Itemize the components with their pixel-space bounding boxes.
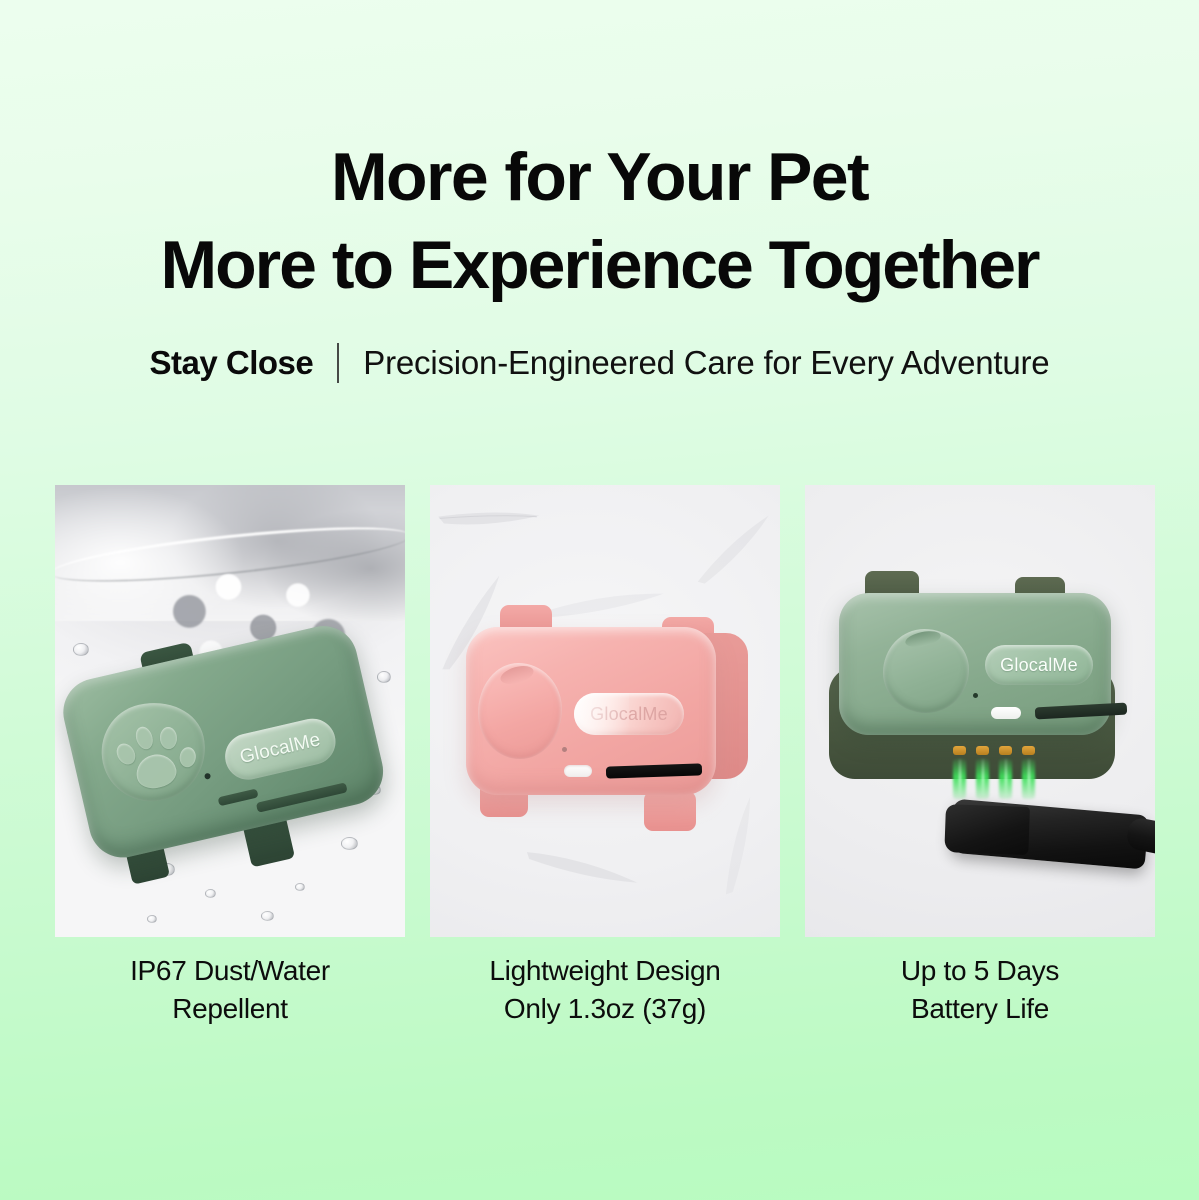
subheadline: Stay Close Precision-Engineered Care for… (0, 341, 1199, 385)
charging-beams (953, 759, 1045, 799)
tracker-device-pink: GlocalMe (466, 605, 756, 835)
brand-logo-text: GlocalMe (1000, 655, 1078, 676)
caption-line-2: Battery Life (805, 990, 1155, 1028)
contact-pin (1022, 746, 1035, 755)
device-body: GlocalMe (839, 593, 1111, 735)
caption-battery: Up to 5 Days Battery Life (805, 952, 1155, 1028)
feature-panel-row: GlocalMe (55, 485, 1155, 937)
bubble (341, 837, 358, 850)
feature-panel-lightweight: GlocalMe (430, 485, 780, 937)
feature-panel-waterproof: GlocalMe (55, 485, 405, 937)
contact-pin (976, 746, 989, 755)
headline-line-1: More for Your Pet (0, 133, 1199, 221)
bubble (205, 889, 216, 898)
bubble (73, 643, 89, 656)
feature-caption-row: IP67 Dust/Water Repellent Lightweight De… (55, 952, 1155, 1028)
contact-pin (953, 746, 966, 755)
caption-line-1: Up to 5 Days (805, 952, 1155, 990)
charge-beam (1022, 759, 1035, 799)
brand-logo-plate: GlocalMe (985, 645, 1093, 685)
bubble (261, 911, 274, 921)
brand-logo-plate: GlocalMe (574, 693, 684, 735)
paw-toe-icon (133, 724, 156, 751)
charge-beam (953, 759, 966, 799)
contact-pin (999, 746, 1012, 755)
caption-waterproof: IP67 Dust/Water Repellent (55, 952, 405, 1028)
device-body: GlocalMe (466, 627, 716, 795)
bubble (295, 883, 305, 891)
bubble (147, 915, 157, 923)
caption-line-1: Lightweight Design (430, 952, 780, 990)
caption-line-2: Repellent (55, 990, 405, 1028)
page-title: More for Your Pet More to Experience Tog… (0, 133, 1199, 309)
paw-pad-icon (133, 751, 179, 792)
brand-logo-plate: GlocalMe (221, 714, 340, 784)
brand-logo-text: GlocalMe (590, 704, 668, 725)
feature-panel-battery: GlocalMe (805, 485, 1155, 937)
paw-print-cover (92, 692, 215, 811)
subheadline-text: Precision-Engineered Care for Every Adve… (363, 341, 1049, 385)
led-indicator-dot (562, 747, 567, 752)
paw-toe-icon (159, 727, 177, 750)
subheadline-emphasis: Stay Close (150, 341, 314, 385)
paw-print-cover (883, 629, 969, 713)
status-led (564, 765, 592, 777)
device-slot-large (606, 763, 702, 778)
headline-line-2: More to Experience Together (0, 221, 1199, 309)
device-slot-small (218, 788, 259, 806)
caption-line-1: IP67 Dust/Water (55, 952, 405, 990)
subheadline-divider (337, 343, 339, 383)
caption-lightweight: Lightweight Design Only 1.3oz (37g) (430, 952, 780, 1028)
paw-toe-icon (113, 740, 139, 768)
led-indicator-dot (973, 693, 978, 698)
charging-contacts (953, 743, 1045, 757)
brand-logo-text: GlocalMe (238, 729, 323, 769)
caption-line-2: Only 1.3oz (37g) (430, 990, 780, 1028)
tracker-device-charging: GlocalMe (825, 571, 1137, 783)
paw-print-cover (478, 663, 562, 759)
device-slot-large (256, 782, 348, 812)
status-led (991, 707, 1021, 719)
cable-connector-head (944, 804, 1030, 855)
led-indicator-dot (204, 773, 211, 780)
charge-beam (976, 759, 989, 799)
paw-toe-icon (179, 746, 197, 768)
charge-beam (999, 759, 1012, 799)
hero-section: More for Your Pet More to Experience Tog… (0, 0, 1199, 385)
mount-post (644, 791, 696, 831)
